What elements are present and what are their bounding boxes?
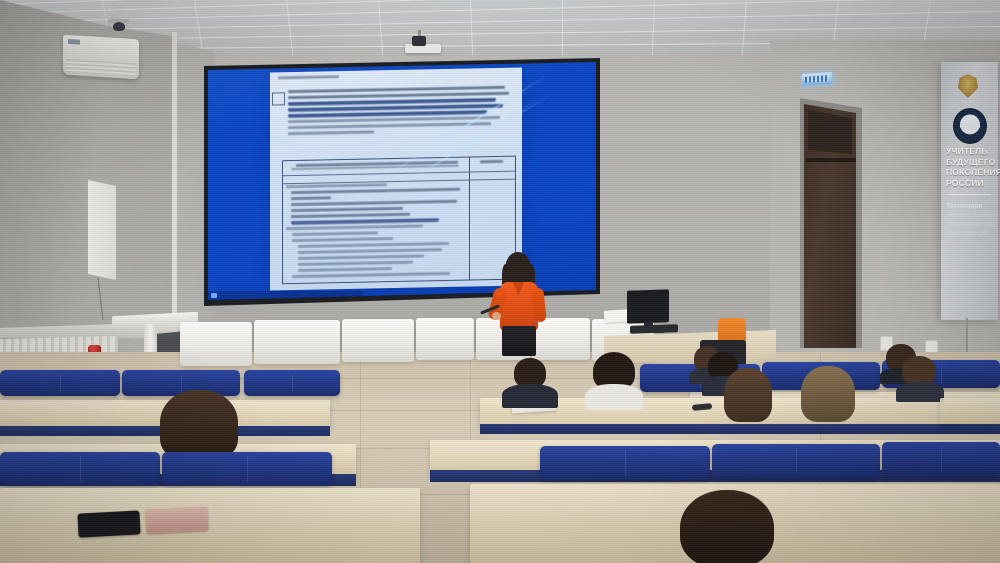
phone-black[interactable] bbox=[77, 510, 140, 537]
student bbox=[672, 490, 782, 563]
start-icon[interactable] bbox=[211, 293, 217, 298]
front-sofa[interactable] bbox=[342, 319, 414, 362]
scoring-table bbox=[282, 156, 516, 285]
front-sofa[interactable] bbox=[416, 318, 474, 360]
student bbox=[504, 358, 556, 406]
student bbox=[896, 356, 944, 400]
banner-subtitle-detail: универсальных педагогических компетенций bbox=[946, 212, 996, 237]
banner-pole bbox=[966, 318, 968, 354]
presenter bbox=[492, 252, 548, 358]
exit-sign-icon bbox=[801, 71, 833, 87]
classroom-photo: УЧИТЕЛЬ БУДУЩЕГО ПОКОЛЕНИЯ РОССИИ Техноп… bbox=[0, 0, 1000, 563]
blind-frame bbox=[172, 32, 177, 322]
door-rail bbox=[806, 158, 856, 162]
state-crest-icon bbox=[957, 74, 979, 98]
monitor[interactable] bbox=[627, 289, 669, 323]
wall-cabinet bbox=[88, 180, 116, 280]
student bbox=[718, 368, 780, 424]
security-camera-icon bbox=[113, 22, 125, 31]
task-number-box bbox=[272, 92, 285, 105]
phone-rose[interactable] bbox=[145, 506, 208, 533]
student bbox=[795, 366, 861, 424]
university-emblem-icon bbox=[953, 108, 987, 144]
bench-seat[interactable] bbox=[162, 452, 332, 486]
banner-title: УЧИТЕЛЬ БУДУЩЕГО ПОКОЛЕНИЯ РОССИИ bbox=[946, 146, 996, 188]
presenter-hand bbox=[492, 312, 501, 320]
bench-seat[interactable] bbox=[0, 370, 120, 396]
roll-up-banner: УЧИТЕЛЬ БУДУЩЕГО ПОКОЛЕНИЯ РОССИИ Техноп… bbox=[941, 62, 998, 320]
student bbox=[585, 352, 643, 406]
bench-seat[interactable] bbox=[540, 446, 710, 480]
bench-seat[interactable] bbox=[244, 370, 340, 396]
bench-seat[interactable] bbox=[0, 452, 160, 486]
bench-seat[interactable] bbox=[882, 442, 1000, 476]
projector-lens bbox=[412, 36, 426, 46]
keyboard[interactable] bbox=[630, 324, 678, 334]
banner-subtitle: Технопарк универсальных педагогических к… bbox=[946, 202, 996, 238]
bench-seat[interactable] bbox=[712, 444, 880, 478]
desk-row-foreground-left bbox=[0, 488, 420, 563]
front-sofa[interactable] bbox=[180, 322, 252, 366]
side-desk bbox=[940, 398, 1000, 424]
air-conditioner-icon bbox=[63, 35, 139, 80]
presenter-skirt bbox=[502, 326, 536, 356]
presenter-arm-right bbox=[531, 287, 546, 322]
projected-document bbox=[270, 67, 522, 290]
banner-divider bbox=[947, 194, 991, 195]
desk-front-panel bbox=[480, 424, 1000, 434]
front-sofa[interactable] bbox=[254, 320, 340, 364]
banner-subtitle-main: Технопарк bbox=[946, 203, 982, 210]
student bbox=[160, 390, 238, 460]
